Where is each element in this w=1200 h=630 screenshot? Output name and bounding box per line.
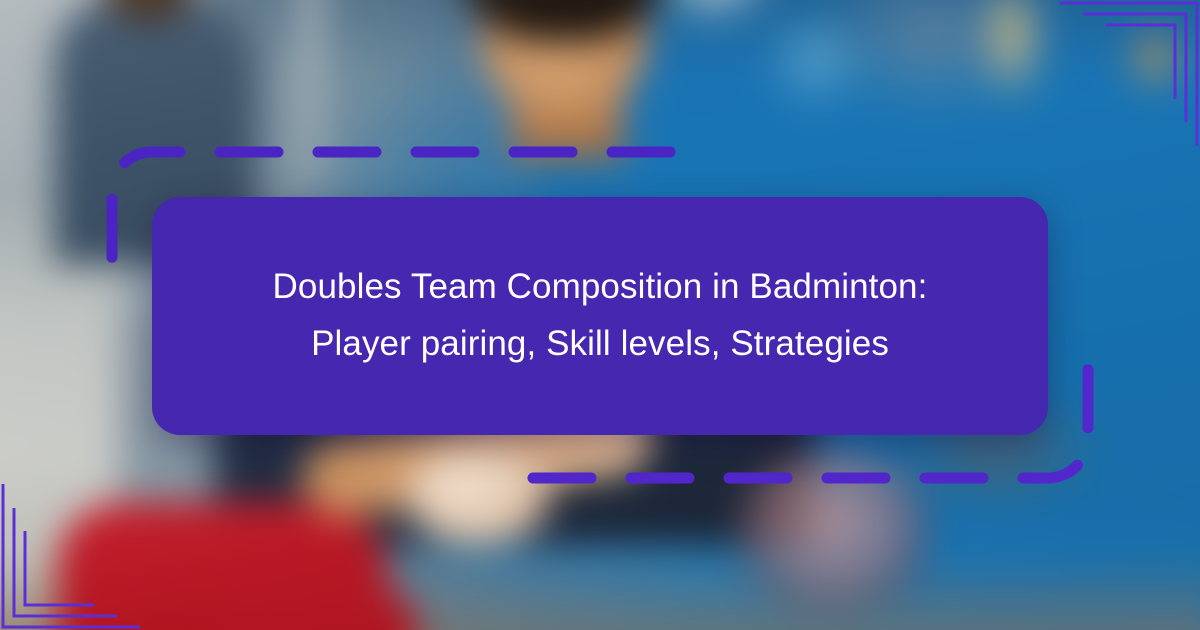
photo-pole	[303, 0, 320, 181]
title-card: Doubles Team Composition in Badminton: P…	[152, 197, 1048, 435]
page-title: Doubles Team Composition in Badminton: P…	[190, 259, 1010, 372]
photo-player-hand	[407, 447, 548, 543]
photo-player-shorts-2	[215, 588, 418, 630]
social-card: Doubles Team Composition in Badminton: P…	[0, 0, 1200, 630]
photo-highlight-amber-2	[1122, 21, 1188, 96]
photo-racket	[737, 449, 930, 610]
